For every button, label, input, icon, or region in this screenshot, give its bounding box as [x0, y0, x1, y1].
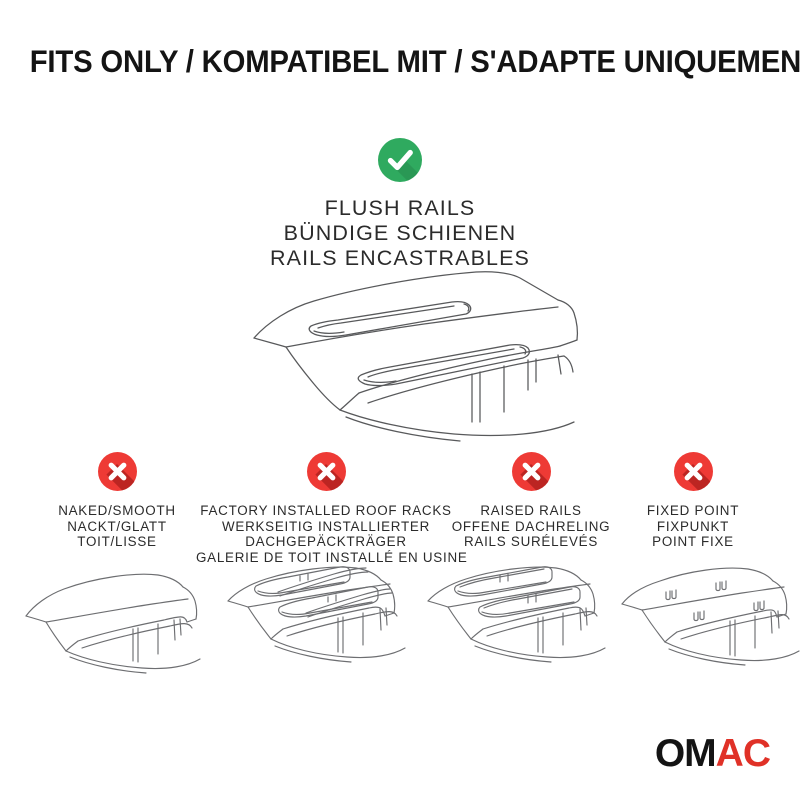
raised-rails-label-fr: RAILS SURÉLEVÉS [431, 534, 631, 550]
naked-smooth-label-fr: TOIT/LISSE [17, 534, 217, 550]
car-roof-fixed-point-illustration [612, 556, 800, 696]
red-x-circle-icon [674, 452, 713, 491]
raised-rails-label: RAISED RAILS OFFENE DACHRELING RAILS SUR… [431, 503, 631, 550]
incompatible-item-fixed-point: FIXED POINT FIXPUNKT POINT FIXE [613, 452, 773, 550]
compatible-label-de: BÜNDIGE SCHIENEN [0, 221, 800, 246]
logo-text-dark: OM [655, 732, 716, 775]
incompatible-item-raised-rails: RAISED RAILS OFFENE DACHRELING RAILS SUR… [431, 452, 631, 550]
factory-racks-label-de-1: WERKSEITIG INSTALLIERTER [196, 519, 456, 535]
raised-rails-label-de: OFFENE DACHRELING [431, 519, 631, 535]
incompatible-item-factory-racks: FACTORY INSTALLED ROOF RACKS WERKSEITIG … [196, 452, 456, 565]
logo-text-red: AC [716, 732, 770, 775]
compatible-label-en: FLUSH RAILS [0, 196, 800, 221]
red-x-circle-icon [512, 452, 551, 491]
naked-smooth-label: NAKED/SMOOTH NACKT/GLATT TOIT/LISSE [17, 503, 217, 550]
naked-smooth-label-en: NAKED/SMOOTH [17, 503, 217, 519]
car-roof-naked-smooth-illustration [12, 556, 212, 696]
naked-smooth-label-de: NACKT/GLATT [17, 519, 217, 535]
page-title: FITS ONLY / KOMPATIBEL MIT / S'ADAPTE UN… [30, 46, 800, 78]
omac-logo: OMAC [655, 735, 770, 773]
factory-racks-label-de-2: DACHGEPÄCKTRÄGER [196, 534, 456, 550]
green-check-circle-icon [378, 138, 422, 182]
raised-rails-label-en: RAISED RAILS [431, 503, 631, 519]
compatible-section: FLUSH RAILS BÜNDIGE SCHIENEN RAILS ENCAS… [0, 138, 800, 271]
fixed-point-label: FIXED POINT FIXPUNKT POINT FIXE [613, 503, 773, 550]
header: FITS ONLY / KOMPATIBEL MIT / S'ADAPTE UN… [0, 46, 800, 78]
compatible-label: FLUSH RAILS BÜNDIGE SCHIENEN RAILS ENCAS… [0, 196, 800, 271]
fixed-point-label-de: FIXPUNKT [613, 519, 773, 535]
incompatible-item-naked-smooth: NAKED/SMOOTH NACKT/GLATT TOIT/LISSE [17, 452, 217, 550]
car-roof-factory-racks-illustration [222, 556, 432, 696]
compatibility-infographic: FITS ONLY / KOMPATIBEL MIT / S'ADAPTE UN… [0, 0, 800, 800]
fixed-point-label-en: FIXED POINT [613, 503, 773, 519]
factory-racks-label-en: FACTORY INSTALLED ROOF RACKS [196, 503, 456, 519]
fixed-point-label-fr: POINT FIXE [613, 534, 773, 550]
car-roof-flush-rails-illustration [228, 262, 600, 448]
red-x-circle-icon [307, 452, 346, 491]
car-roof-raised-rails-illustration [422, 556, 632, 696]
red-x-circle-icon [98, 452, 137, 491]
